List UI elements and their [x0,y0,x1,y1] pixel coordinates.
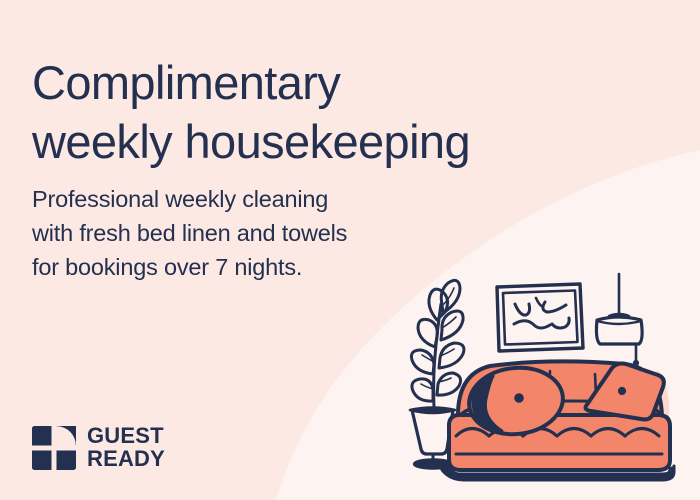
pendant-lamp-icon [596,274,642,365]
sofa-icon [442,361,674,480]
guest-ready-wordmark: GUEST READY [87,425,165,470]
brand-logo: GUEST READY [32,425,165,470]
subheadline: Professional weekly cleaning with fresh … [32,182,452,284]
headline: Complimentary weekly housekeeping [32,53,632,171]
guest-ready-mark-icon [32,426,76,470]
framed-picture-icon [497,284,583,351]
promo-banner: Complimentary weekly housekeeping Profes… [0,0,700,500]
